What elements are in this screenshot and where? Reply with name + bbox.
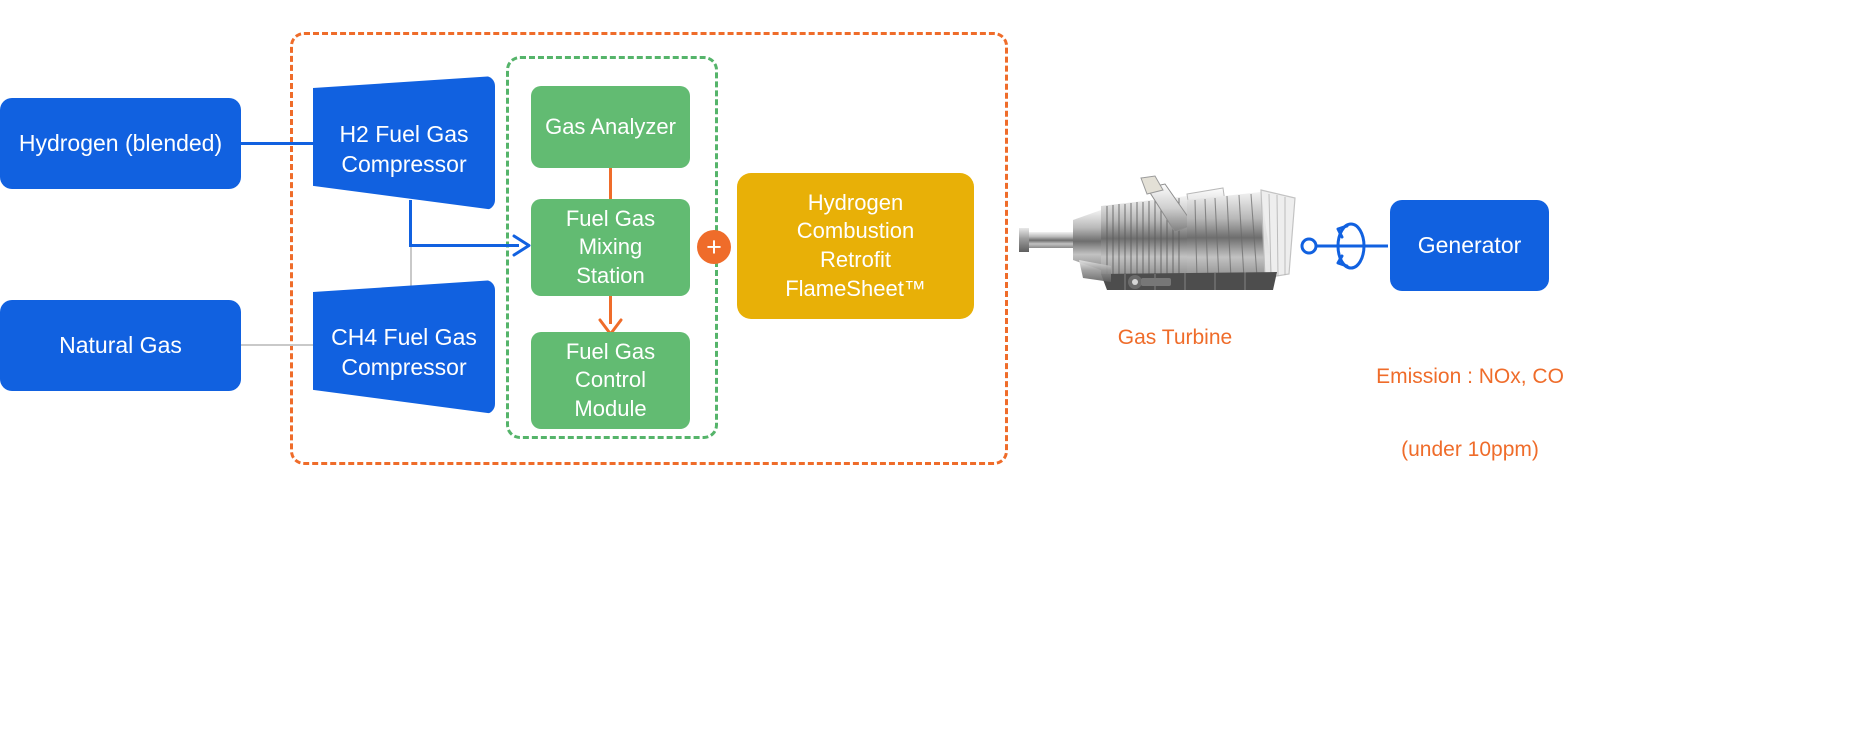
natural-gas-source-box[interactable]: Natural Gas xyxy=(0,300,241,391)
mixing-station-line-3: Station xyxy=(531,262,690,291)
generator-label: Generator xyxy=(1390,231,1549,261)
fuel-gas-control-module-box[interactable]: Fuel Gas Control Module xyxy=(531,332,690,429)
control-module-line-3: Module xyxy=(531,395,690,424)
mixing-station-line-2: Mixing xyxy=(531,233,690,262)
rotating-shaft-icon xyxy=(1300,215,1390,277)
hydrogen-source-label: Hydrogen (blended) xyxy=(0,129,241,159)
connector-analyzer-to-mixing xyxy=(609,168,612,200)
emission-line-1: Emission : NOx, CO xyxy=(1330,359,1610,396)
gas-analyzer-label: Gas Analyzer xyxy=(531,113,690,142)
gas-analyzer-box[interactable]: Gas Analyzer xyxy=(531,86,690,168)
hydrogen-combustion-retrofit-box[interactable]: Hydrogen Combustion Retrofit FlameSheet™ xyxy=(737,173,974,319)
generator-box[interactable]: Generator xyxy=(1390,200,1549,291)
gas-turbine-caption: Gas Turbine xyxy=(1080,320,1270,357)
fuel-gas-mixing-station-label: Fuel Gas Mixing Station xyxy=(531,205,690,291)
hydrogen-source-box[interactable]: Hydrogen (blended) xyxy=(0,98,241,189)
connector-to-mixing-station xyxy=(409,244,519,247)
connector-natural-gas-to-ch4-compressor xyxy=(240,344,315,346)
control-module-line-2: Control xyxy=(531,366,690,395)
control-module-line-1: Fuel Gas xyxy=(531,338,690,367)
fuel-gas-control-module-label: Fuel Gas Control Module xyxy=(531,338,690,424)
hydrogen-combustion-retrofit-label: Hydrogen Combustion Retrofit FlameSheet™ xyxy=(737,189,974,303)
natural-gas-source-label: Natural Gas xyxy=(0,331,241,361)
emission-caption: Emission : NOx, CO (under 10ppm) xyxy=(1330,322,1610,506)
connector-h2-drop xyxy=(409,200,412,244)
retrofit-line-3: Retrofit xyxy=(737,246,974,275)
plus-badge-icon: + xyxy=(697,230,731,264)
plus-symbol: + xyxy=(706,234,722,261)
diagram-canvas: Hydrogen (blended) Natural Gas H2 Fuel G… xyxy=(0,0,1854,754)
retrofit-line-2: Combustion xyxy=(737,217,974,246)
emission-line-2: (under 10ppm) xyxy=(1330,432,1610,469)
retrofit-line-1: Hydrogen xyxy=(737,189,974,218)
retrofit-line-4: FlameSheet™ xyxy=(737,275,974,304)
connector-hydrogen-to-h2-compressor xyxy=(240,142,318,145)
mixing-station-line-1: Fuel Gas xyxy=(531,205,690,234)
fuel-gas-mixing-station-box[interactable]: Fuel Gas Mixing Station xyxy=(531,199,690,296)
gas-turbine-photo-icon xyxy=(1015,170,1305,305)
